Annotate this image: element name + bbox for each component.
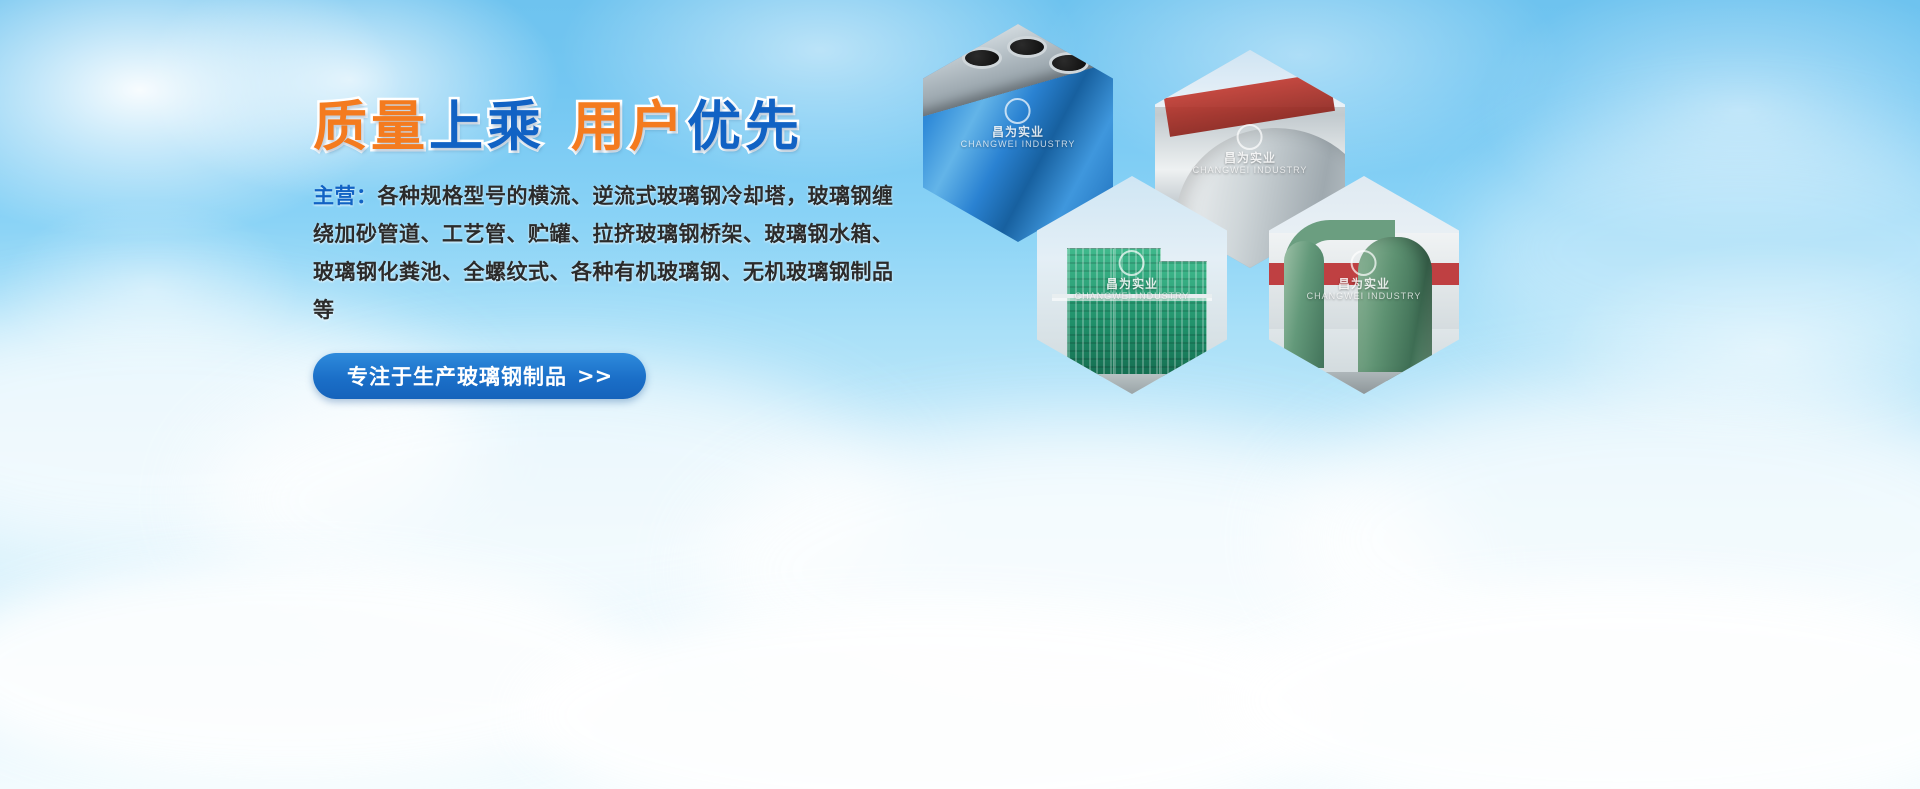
cta-label: 专注于生产玻璃钢制品: [347, 361, 567, 391]
hero-banner: 质量上乘用户优先 主营：各种规格型号的横流、逆流式玻璃钢冷却塔，玻璃钢缠绕加砂管…: [0, 0, 1920, 789]
description-lead: 主营：: [313, 184, 378, 208]
double-chevron-right-icon: >>: [577, 364, 612, 388]
description-body: 各种规格型号的横流、逆流式玻璃钢冷却塔，玻璃钢缠绕加砂管道、工艺管、贮罐、拉挤玻…: [313, 184, 894, 322]
product-photo-collage: 昌为实业 CHANGWEI INDUSTRY 昌为实业 CHANGWEI IND…: [915, 10, 1435, 410]
headline-segment-3: 用户: [571, 95, 687, 158]
banner-description: 主营：各种规格型号的横流、逆流式玻璃钢冷却塔，玻璃钢缠绕加砂管道、工艺管、贮罐、…: [313, 177, 913, 329]
banner-text-block: 质量上乘用户优先 主营：各种规格型号的横流、逆流式玻璃钢冷却塔，玻璃钢缠绕加砂管…: [305, 95, 925, 399]
focus-on-frp-products-button[interactable]: 专注于生产玻璃钢制品 >>: [313, 353, 646, 399]
page-title: 质量上乘用户优先: [313, 95, 925, 159]
headline-segment-1: 质量: [313, 95, 429, 158]
headline-segment-2: 上乘: [429, 95, 545, 158]
headline-segment-4: 优先: [687, 95, 803, 158]
